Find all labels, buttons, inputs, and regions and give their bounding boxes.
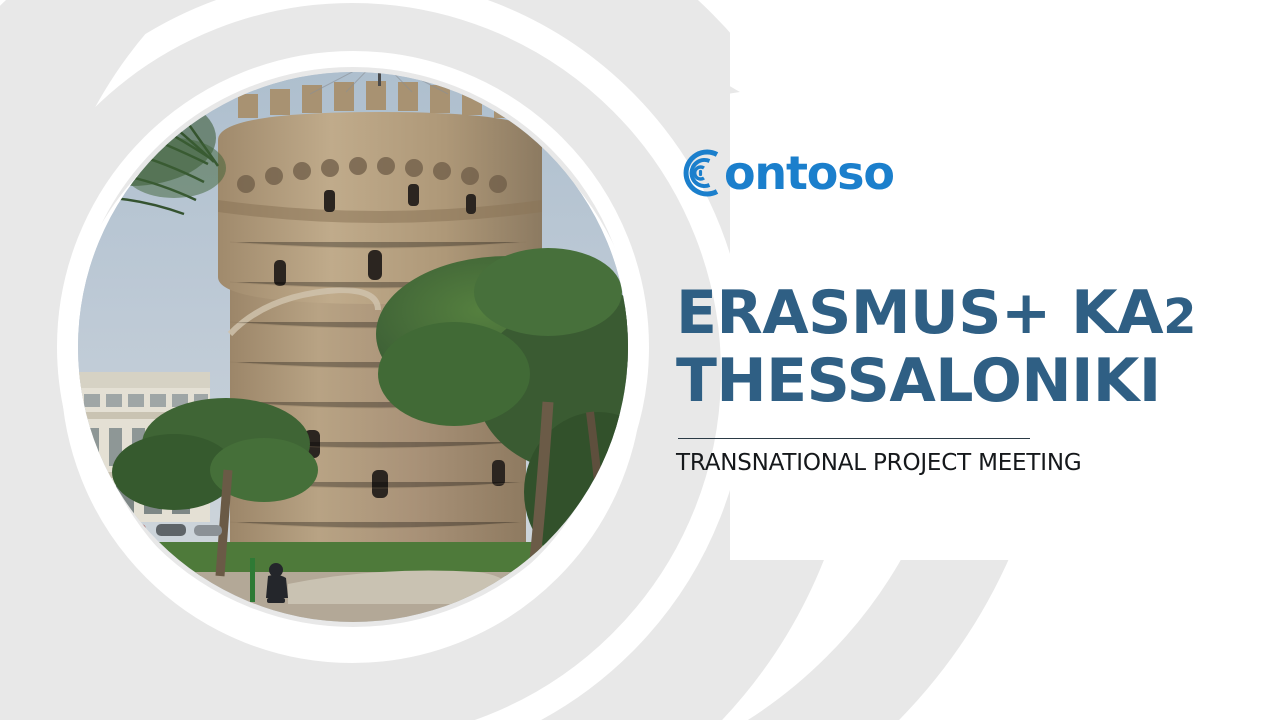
photo-pine-top-left-mass: [78, 90, 226, 198]
page-title-line-1: ERASMUS+ KA2: [676, 280, 1206, 348]
photo-cars: [112, 524, 222, 536]
contoso-logo[interactable]: ontoso: [676, 138, 894, 208]
photo-scooter: [250, 558, 255, 602]
slide-content-column: ontoso ERASMUS+ KA2 THESSALONIKI TRANSNA…: [676, 0, 1236, 720]
title-divider-rule: [678, 438, 1030, 439]
contoso-c-mark-icon: [676, 146, 730, 200]
page-title-numeral: 2: [1163, 289, 1196, 345]
white-tower-thessaloniki-photo: [78, 72, 628, 622]
photo-grass: [78, 542, 628, 576]
presentation-slide: ontoso ERASMUS+ KA2 THESSALONIKI TRANSNA…: [0, 0, 1280, 720]
page-title-line-2: THESSALONIKI: [676, 348, 1206, 416]
page-title-line-1-text: ERASMUS+ KA: [676, 278, 1163, 348]
page-title: ERASMUS+ KA2 THESSALONIKI: [676, 280, 1206, 416]
contoso-wordmark: ontoso: [724, 150, 894, 196]
page-subtitle: TRANSNATIONAL PROJECT MEETING: [676, 450, 1081, 476]
